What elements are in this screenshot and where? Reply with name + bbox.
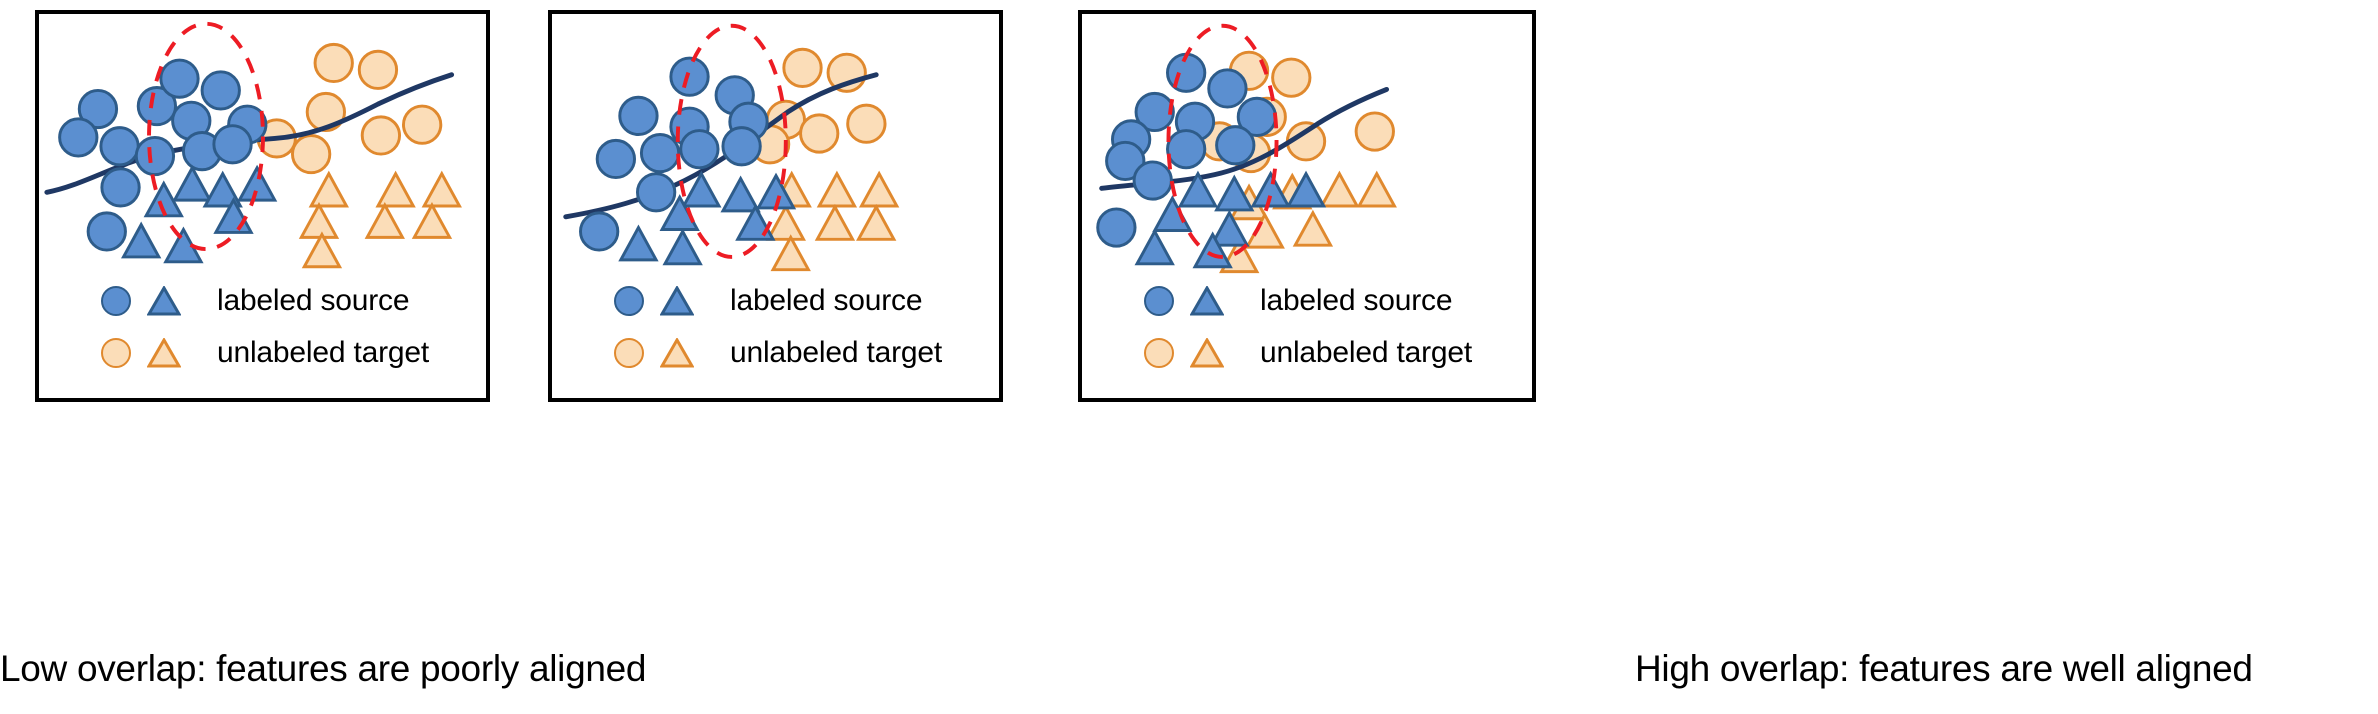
filled-triangle-icon <box>147 286 181 316</box>
domain-adaptation-overlap-figure: labeled source unlabeled target <box>0 0 2378 714</box>
target-circles-group <box>258 44 441 172</box>
outlined-circle-icon <box>614 338 644 368</box>
filled-triangle-icon <box>660 286 694 316</box>
caption-high-overlap: High overlap: features are well aligned <box>1635 648 2253 690</box>
legend-swatches-source <box>1144 286 1254 316</box>
caption-low-overlap: Low overlap: features are poorly aligned <box>0 648 646 690</box>
legend-swatches-source <box>614 286 724 316</box>
legend-panel-1: labeled source unlabeled target <box>101 278 429 382</box>
legend-row-target: unlabeled target <box>1144 330 1472 376</box>
legend-swatches-target <box>614 338 724 368</box>
legend-row-target: unlabeled target <box>101 330 429 376</box>
filled-triangle-icon <box>1190 286 1224 316</box>
panel-low-overlap: labeled source unlabeled target <box>35 10 490 402</box>
target-triangles-group <box>301 174 459 267</box>
legend-label-source: labeled source <box>1254 286 1452 316</box>
legend-label-target: unlabeled target <box>211 338 429 368</box>
outlined-triangle-icon <box>660 338 694 368</box>
panel-medium-overlap: labeled source unlabeled target <box>548 10 1003 402</box>
filled-circle-icon <box>614 286 644 316</box>
outlined-triangle-icon <box>1190 338 1224 368</box>
legend-row-source: labeled source <box>614 278 942 324</box>
legend-row-source: labeled source <box>1144 278 1472 324</box>
legend-swatches-source <box>101 286 211 316</box>
legend-label-target: unlabeled target <box>724 338 942 368</box>
outlined-circle-icon <box>1144 338 1174 368</box>
legend-label-source: labeled source <box>724 286 922 316</box>
legend-label-source: labeled source <box>211 286 409 316</box>
filled-circle-icon <box>101 286 131 316</box>
legend-panel-3: labeled source unlabeled target <box>1144 278 1472 382</box>
legend-label-target: unlabeled target <box>1254 338 1472 368</box>
outlined-circle-icon <box>101 338 131 368</box>
legend-panel-2: labeled source unlabeled target <box>614 278 942 382</box>
legend-row-target: unlabeled target <box>614 330 942 376</box>
legend-swatches-target <box>1144 338 1254 368</box>
legend-swatches-target <box>101 338 211 368</box>
legend-row-source: labeled source <box>101 278 429 324</box>
panel-high-overlap: labeled source unlabeled target <box>1078 10 1536 402</box>
outlined-triangle-icon <box>147 338 181 368</box>
target-triangles-group <box>768 174 897 270</box>
filled-circle-icon <box>1144 286 1174 316</box>
